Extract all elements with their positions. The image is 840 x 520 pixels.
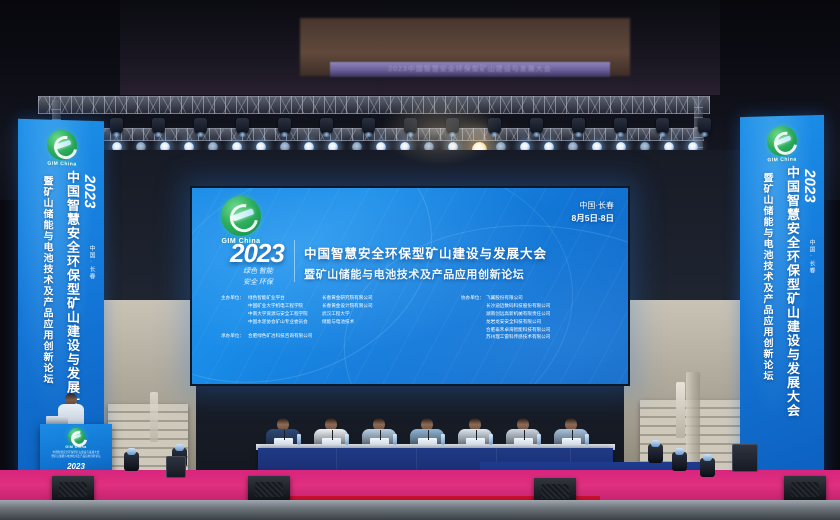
water-bottle xyxy=(441,434,445,445)
banner-left-subtitle: 暨矿山储能与电池技术及产品应用创新论坛 xyxy=(39,175,54,384)
moving-head-light xyxy=(278,118,291,134)
banner-left-logo: GIM China xyxy=(40,129,84,167)
cohost-2: 湖南创远高新机械有限责任公司 xyxy=(484,310,550,318)
floor-moving-light-5 xyxy=(700,458,715,477)
screen-location-date: 中国·长春 8月5日-8日 xyxy=(571,200,614,224)
water-bottle xyxy=(537,434,541,445)
balustrade-post-left xyxy=(150,392,158,442)
stage-monitor-left xyxy=(52,476,94,502)
screen-year: 2023 xyxy=(230,238,284,269)
conference-stage-photo: 2023中国智慧安全环保型矿山建设与发展大会 GIM China 中国·长春 8… xyxy=(0,0,840,520)
banner-left-title: 中国智慧安全环保型矿山建设与发展大会 xyxy=(63,170,82,423)
podium-line2: 暨矿山储能与电池技术及产品应用创新论坛 xyxy=(44,455,108,459)
gim-logo-icon xyxy=(47,130,77,161)
led-screen-content: GIM China 中国·长春 8月5日-8日 2023 绿色 智能 安全 环保… xyxy=(192,188,628,384)
moving-head-light xyxy=(236,118,249,134)
moving-head-light xyxy=(656,118,669,134)
cohost-0: 飞翼股份有限公司 xyxy=(484,294,523,302)
gim-logo-icon xyxy=(767,126,797,157)
banner-right-logo: GIM China xyxy=(760,125,804,163)
screen-organizer-left-block: 主办单位：绿色智能矿业平台长春黄金研究院有限公司 中国矿业大学机电工程学院长春黄… xyxy=(214,294,373,339)
banner-left-location: 中国·长春 xyxy=(87,245,96,280)
host-col2-3: 储能与电池技术 xyxy=(320,318,354,326)
cohost-5: 苏州理工雷科传感技术有限公司 xyxy=(484,333,550,341)
host-col2-0: 长春黄金研究院有限公司 xyxy=(320,294,373,302)
banner-right-title: 中国智慧安全环保型矿山建设与发展大会 xyxy=(783,165,802,418)
cohost-label: 协办单位： xyxy=(454,294,484,302)
moving-head-light xyxy=(362,118,375,134)
table-microphone xyxy=(572,430,573,440)
screen-title: 中国智慧安全环保型矿山建设与发展大会 xyxy=(304,243,547,262)
water-bottle xyxy=(345,434,349,445)
host-col2-1: 长春黄金设计院有限公司 xyxy=(320,302,373,310)
moving-head-light xyxy=(320,118,333,134)
moving-head-light xyxy=(698,118,711,134)
screen-divider xyxy=(294,240,295,282)
moving-head-light xyxy=(404,118,417,134)
table-microphone xyxy=(332,430,333,440)
water-bottle xyxy=(585,434,589,445)
balustrade-post-right xyxy=(676,382,685,438)
overhead-banner-text: 2023中国智慧安全环保型矿山建设与发展大会 xyxy=(330,64,610,74)
screen-subtitle: 暨矿山储能与电池技术及产品应用创新论坛 xyxy=(304,266,524,282)
screen-slogan-line2: 安全 环保 xyxy=(230,277,286,288)
moving-head-light xyxy=(614,118,627,134)
organizer-value: 合肥绿色矿冶科技咨询有限公司 xyxy=(244,332,312,340)
moving-head-light xyxy=(488,118,501,134)
host-col2-2: 武汉工程大学 xyxy=(320,310,350,318)
road-case-left xyxy=(166,456,186,478)
stage-monitor-right xyxy=(784,476,826,502)
moving-head-light xyxy=(110,118,123,134)
screen-date: 8月5日-8日 xyxy=(571,212,614,224)
cohost-1: 长沙迪迈数码科技股份有限公司 xyxy=(484,302,550,310)
main-led-screen: GIM China 中国·长春 8月5日-8日 2023 绿色 智能 安全 环保… xyxy=(190,186,630,386)
lighting-truss-upper xyxy=(38,96,710,114)
banner-left-wordmark: GIM China xyxy=(40,160,84,167)
screen-cohost-block: 协办单位：飞翼股份有限公司 长沙迪迈数码科技股份有限公司 湖南创远高新机械有限责… xyxy=(454,294,550,341)
host-label: 主办单位： xyxy=(214,294,244,302)
screen-slogan-line1: 绿色 智能 xyxy=(230,266,286,277)
banner-left-year: 2023 xyxy=(81,175,98,209)
moving-head-light xyxy=(446,118,459,134)
stage-monitor-center-left xyxy=(248,476,290,502)
side-banner-right: GIM China 2023 中国·长春 中国智慧安全环保型矿山建设与发展大会 … xyxy=(740,115,824,489)
overhead-banner: 2023中国智慧安全环保型矿山建设与发展大会 xyxy=(330,62,610,77)
host-col1-2: 中南大学资源与安全工程学院 xyxy=(244,310,320,318)
road-case-right xyxy=(732,444,758,472)
table-microphone xyxy=(380,430,381,440)
moving-head-light xyxy=(530,118,543,134)
table-microphone xyxy=(476,430,477,440)
table-microphone xyxy=(428,430,429,440)
moving-head-light xyxy=(194,118,207,134)
banner-right-location: 中国·长春 xyxy=(807,239,816,274)
cohost-4: 合肥泰禾卓海智能科技有限公司 xyxy=(484,326,550,334)
banner-right-year: 2023 xyxy=(801,169,818,203)
moving-head-light xyxy=(152,118,165,134)
floor-moving-light-1 xyxy=(124,452,139,471)
floor-moving-light-4 xyxy=(672,452,687,471)
cohost-3: 龙岩龙安安全科技有限公司 xyxy=(484,318,541,326)
table-microphone xyxy=(284,430,285,440)
water-bottle xyxy=(393,434,397,445)
host-col1-3: 中国水泥协会矿山专业委员会 xyxy=(244,318,320,326)
host-col1-0: 绿色智能矿业平台 xyxy=(244,294,320,302)
stone-pillar-right xyxy=(686,372,700,462)
front-barrier-rail xyxy=(0,500,840,520)
banner-right-subtitle: 暨矿山储能与电池技术及产品应用创新论坛 xyxy=(759,172,774,381)
screen-location: 中国·长春 xyxy=(571,200,614,212)
banner-right-wordmark: GIM China xyxy=(760,156,804,163)
screen-slogan: 绿色 智能 安全 环保 xyxy=(230,266,286,287)
host-col1-1: 中国矿业大学机电工程学院 xyxy=(244,302,320,310)
organizer-label: 承办单位： xyxy=(214,332,244,340)
water-bottle xyxy=(297,434,301,445)
gim-logo-icon xyxy=(68,428,85,445)
water-bottle xyxy=(489,434,493,445)
table-microphone xyxy=(524,430,525,440)
floor-moving-light-3 xyxy=(648,444,663,463)
moving-head-light xyxy=(572,118,585,134)
gim-logo-icon xyxy=(221,196,261,236)
